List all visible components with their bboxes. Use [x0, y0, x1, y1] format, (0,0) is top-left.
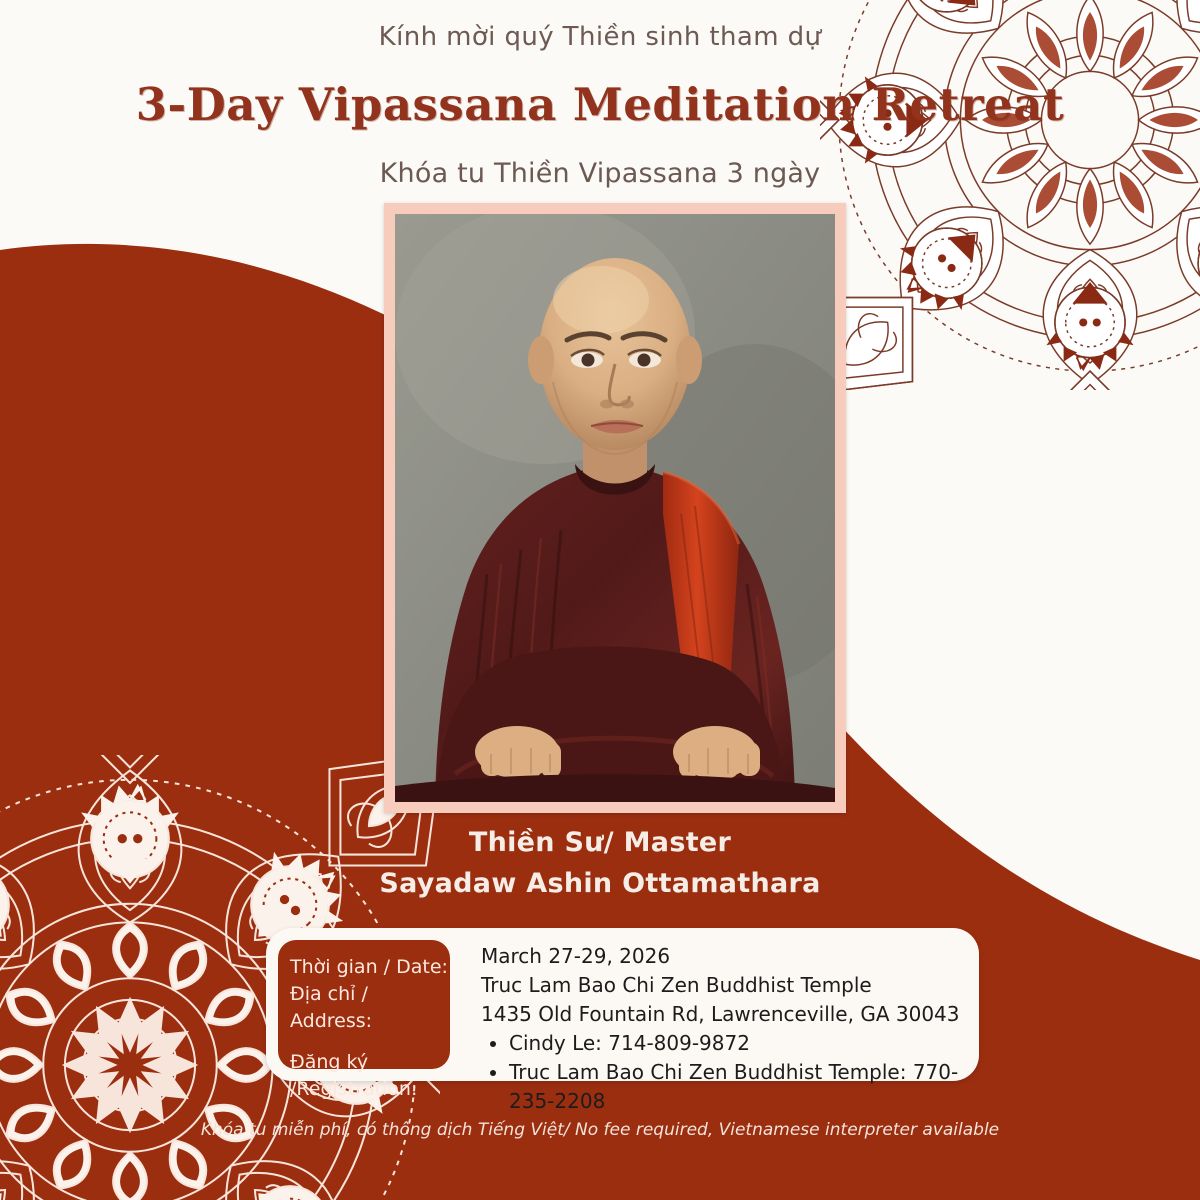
- venue-value: Truc Lam Bao Chi Zen Buddhist Temple: [481, 971, 973, 1000]
- list-item[interactable]: Cindy Le: 714-809-9872: [509, 1029, 973, 1058]
- date-label: Thời gian / Date:: [290, 954, 450, 981]
- footnote-text: Khóa tu miễn phí, có thông dịch Tiếng Vi…: [0, 1120, 1200, 1140]
- street-value: 1435 Old Fountain Rd, Lawrenceville, GA …: [481, 1000, 973, 1029]
- mandala-icon: [820, 0, 1200, 390]
- details-values: March 27-29, 2026 Truc Lam Bao Chi Zen B…: [481, 942, 973, 1116]
- registration-label: Đăng ký /Registration:: [290, 1049, 450, 1103]
- details-label-panel: Thời gian / Date: Địa chỉ / Address: Đăn…: [278, 940, 450, 1069]
- details-card: Thời gian / Date: Địa chỉ / Address: Đăn…: [266, 928, 979, 1081]
- address-label: Địa chỉ / Address:: [290, 981, 450, 1035]
- label-spacer: [290, 1035, 450, 1049]
- poster-canvas: Kính mời quý Thiền sinh tham dự 3-Day Vi…: [0, 0, 1200, 1200]
- portrait-frame: [384, 203, 846, 813]
- page-title: 3-Day Vipassana Meditation Retreat: [0, 78, 1200, 131]
- list-item[interactable]: Truc Lam Bao Chi Zen Buddhist Temple: 77…: [509, 1058, 973, 1116]
- page-subtitle: Khóa tu Thiền Vipassana 3 ngày: [0, 158, 1200, 189]
- master-role-label: Thiền Sư/ Master: [0, 827, 1200, 858]
- monk-portrait-illustration: [395, 214, 835, 802]
- registration-contacts: Cindy Le: 714-809-9872 Truc Lam Bao Chi …: [481, 1029, 973, 1116]
- invitation-line: Kính mời quý Thiền sinh tham dự: [0, 22, 1200, 52]
- date-value: March 27-29, 2026: [481, 942, 973, 971]
- master-name-label: Sayadaw Ashin Ottamathara: [0, 868, 1200, 899]
- portrait-photo: [395, 214, 835, 802]
